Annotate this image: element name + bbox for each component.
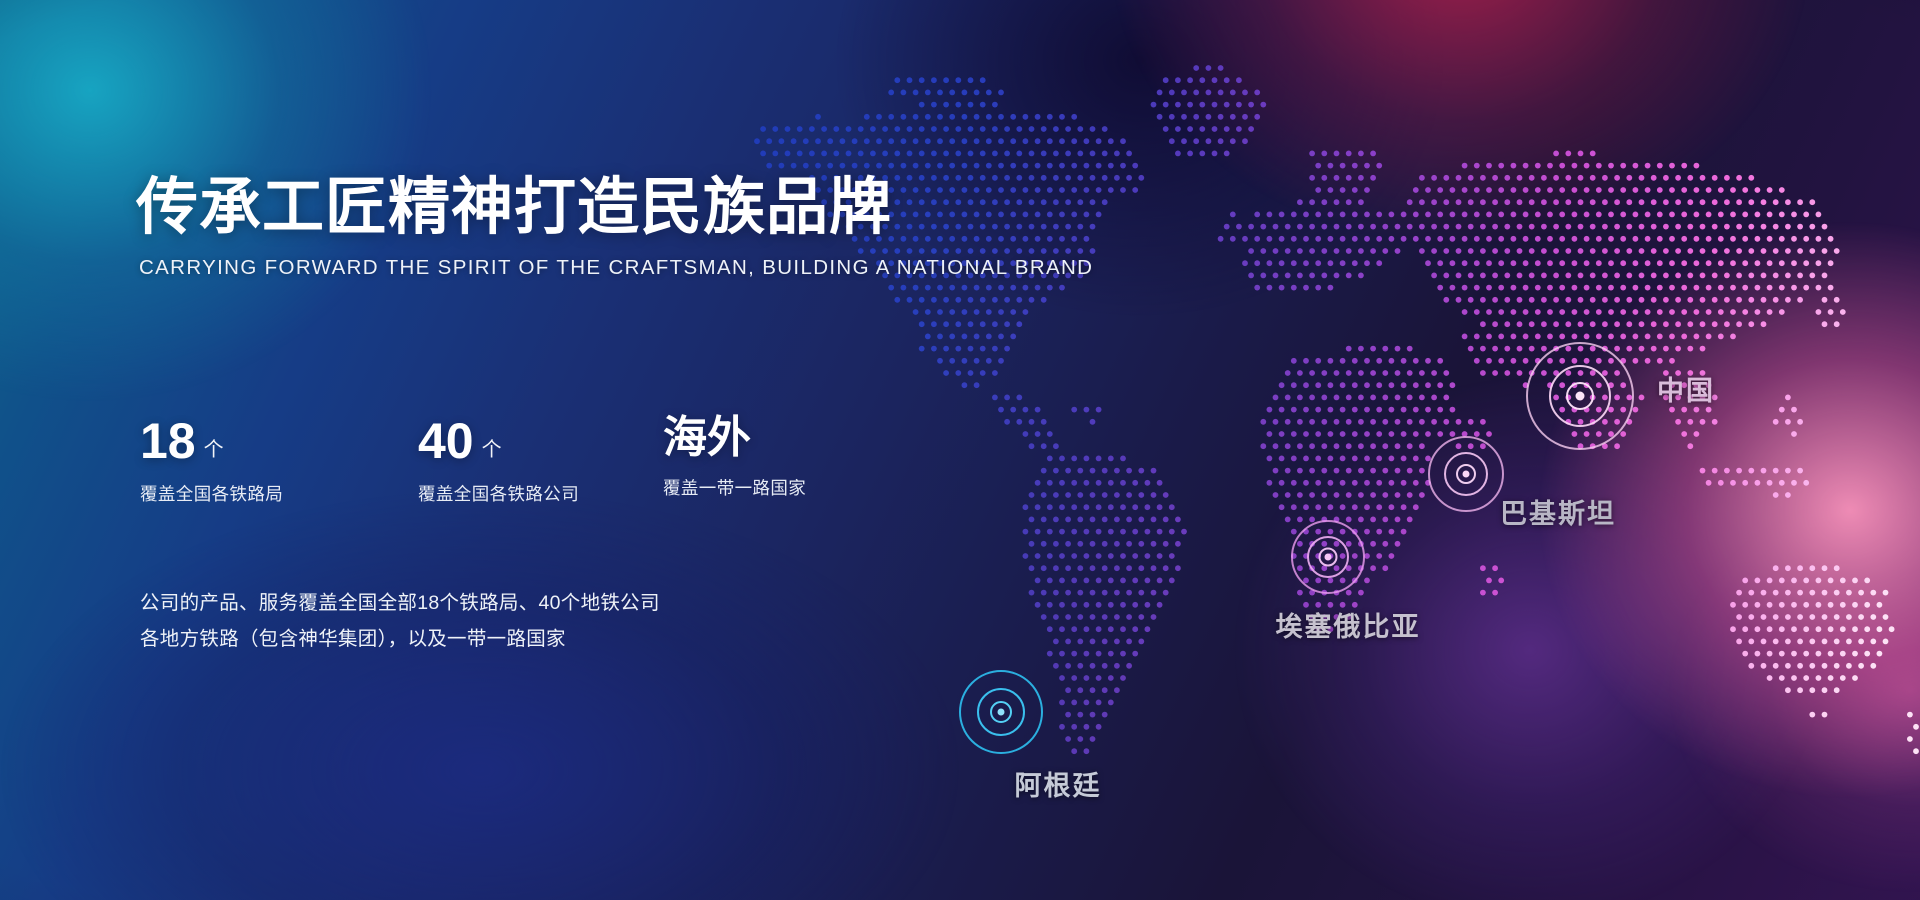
stat-unit: 个 [204,433,224,462]
stat-value: 海外 [663,416,751,460]
marker-center-dot [998,709,1005,716]
stat-value: 40 [418,416,474,466]
stat-unit: 个 [482,433,502,462]
stat-value-row: 40 个 [418,416,663,466]
stat-description: 覆盖一带一路国家 [663,475,806,500]
stat-value-row: 18 个 [140,416,418,466]
marker-center-dot [1463,471,1470,478]
marker-center-dot [1325,554,1332,561]
description-line-1: 公司的产品、服务覆盖全国全部18个铁路局、40个地铁公司 [140,585,660,621]
map-marker-label-china: 中国 [1657,369,1715,408]
stat-description: 覆盖全国各铁路局 [140,481,418,506]
description-line-2: 各地方铁路（包含神华集团），以及一带一路国家 [140,621,660,657]
stat-item: 18 个 覆盖全国各铁路局 [140,416,418,506]
stat-value: 18 [140,416,196,466]
page-title: 传承工匠精神打造民族品牌 [136,175,1036,240]
map-marker-label-ethiopia: 埃塞俄比亚 [1276,605,1421,644]
promo-banner: 中国 巴基斯坦 埃塞俄比亚 阿根廷 传承工匠精神打造民族品牌 CARR [0,0,1920,900]
map-marker-label-argentina: 阿根廷 [1015,764,1102,803]
headline-block: 传承工匠精神打造民族品牌 CARRYING FORWARD THE SPIRIT… [136,175,1036,280]
description-block: 公司的产品、服务覆盖全国全部18个铁路局、40个地铁公司 各地方铁路（包含神华集… [140,585,660,657]
page-subtitle: CARRYING FORWARD THE SPIRIT OF THE CRAFT… [139,256,1036,280]
statistics-row: 18 个 覆盖全国各铁路局 40 个 覆盖全国各铁路公司 海外 覆盖一带一路国家 [140,416,900,506]
stat-item: 40 个 覆盖全国各铁路公司 [418,416,663,506]
map-marker-label-pakistan: 巴基斯坦 [1500,492,1616,531]
marker-center-dot [1576,392,1585,401]
stat-description: 覆盖全国各铁路公司 [418,481,663,506]
stat-item: 海外 覆盖一带一路国家 [663,416,806,506]
stat-value-row: 海外 [663,416,806,460]
